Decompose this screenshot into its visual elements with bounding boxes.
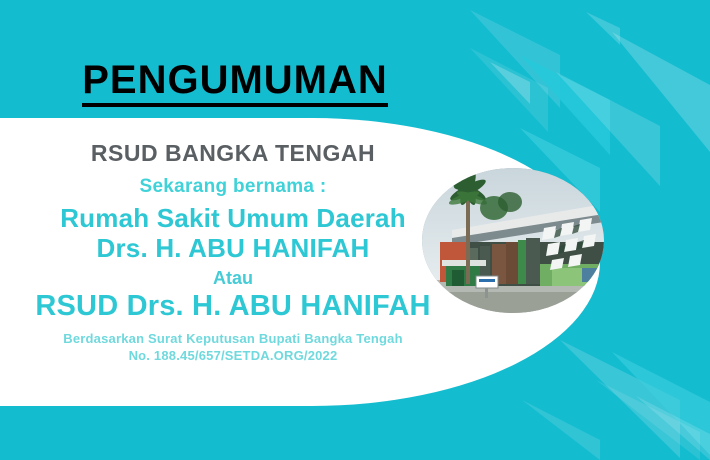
alternate-name: RSUD Drs. H. ABU HANIFAH bbox=[0, 291, 466, 323]
new-name-line2: Drs. H. ABU HANIFAH bbox=[0, 234, 466, 264]
announcement-text-block: RSUD BANGKA TENGAH Sekarang bernama : Ru… bbox=[0, 140, 466, 365]
intro-line: Sekarang bernama : bbox=[0, 176, 466, 198]
title-container: PENGUMUMAN bbox=[0, 60, 470, 107]
or-word: Atau bbox=[0, 268, 466, 289]
decree-line2: No. 188.45/657/SETDA.ORG/2022 bbox=[0, 347, 466, 365]
organization-header: RSUD BANGKA TENGAH bbox=[0, 140, 466, 167]
new-name-line1: Rumah Sakit Umum Daerah bbox=[0, 204, 466, 234]
poster-title: PENGUMUMAN bbox=[82, 60, 388, 107]
hospital-photo bbox=[422, 168, 604, 313]
decree-line1: Berdasarkan Surat Keputusan Bupati Bangk… bbox=[0, 330, 466, 348]
footer-social-bar: RSUD Bangka Tengah rsudbangkatengah bbox=[0, 404, 710, 460]
announcement-poster: PENGUMUMAN RSUD BANGKA TENGAH Sekarang b… bbox=[0, 0, 710, 460]
